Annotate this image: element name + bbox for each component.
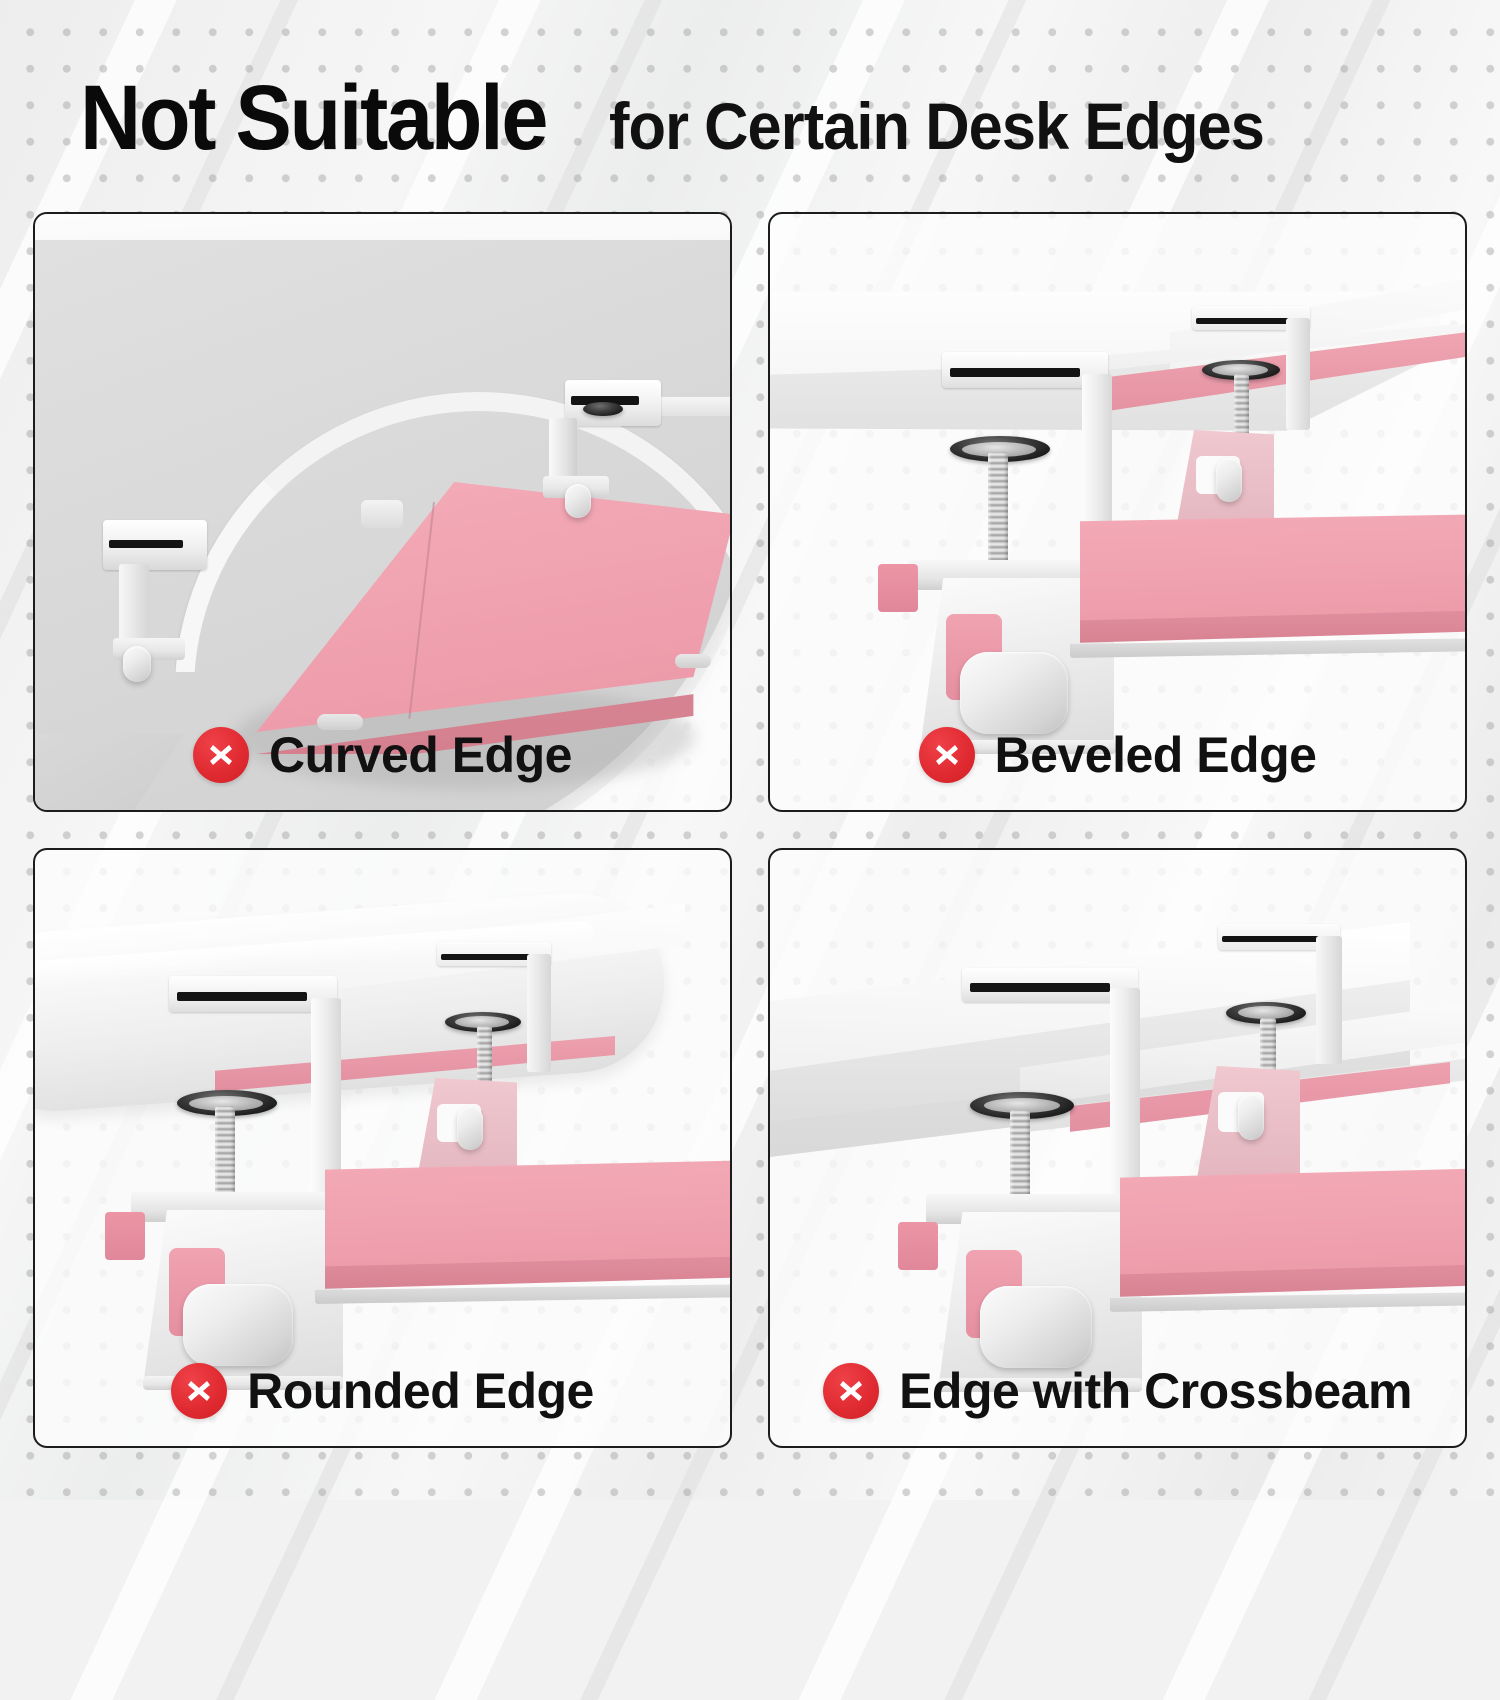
caption-rounded-edge: Rounded Edge	[35, 1362, 730, 1420]
clamp-rear	[1200, 924, 1360, 1174]
clamp-rear	[423, 942, 573, 1192]
title-subtitle: for Certain Desk Edges	[609, 93, 1264, 159]
panel-edge-with-crossbeam[interactable]: Edge with Crossbeam	[768, 848, 1467, 1448]
x-circle-icon	[171, 1363, 227, 1419]
caption-edge-with-crossbeam: Edge with Crossbeam	[770, 1362, 1465, 1420]
caption-beveled-edge: Beveled Edge	[770, 726, 1465, 784]
caption-label: Edge with Crossbeam	[899, 1362, 1412, 1420]
illustration-curved-edge	[35, 214, 730, 810]
clamp-left	[89, 520, 239, 710]
illustration-rounded-edge	[35, 850, 730, 1446]
panel-curved-edge[interactable]: Curved Edge	[33, 212, 732, 812]
clamp-right	[535, 380, 665, 540]
x-circle-icon	[823, 1363, 879, 1419]
panel-rounded-edge[interactable]: Rounded Edge	[33, 848, 732, 1448]
title-strong: Not Suitable	[80, 72, 546, 164]
illustration-edge-with-crossbeam	[770, 850, 1465, 1446]
page-title: Not Suitable for Certain Desk Edges	[80, 72, 1480, 172]
x-circle-icon	[193, 727, 249, 783]
caption-label: Rounded Edge	[247, 1362, 594, 1420]
caption-curved-edge: Curved Edge	[35, 726, 730, 784]
panel-beveled-edge[interactable]: Beveled Edge	[768, 212, 1467, 812]
caption-label: Curved Edge	[269, 726, 572, 784]
caption-label: Beveled Edge	[995, 726, 1317, 784]
panel-grid: Curved Edge	[33, 212, 1467, 1454]
x-circle-icon	[919, 727, 975, 783]
illustration-beveled-edge	[770, 214, 1465, 810]
